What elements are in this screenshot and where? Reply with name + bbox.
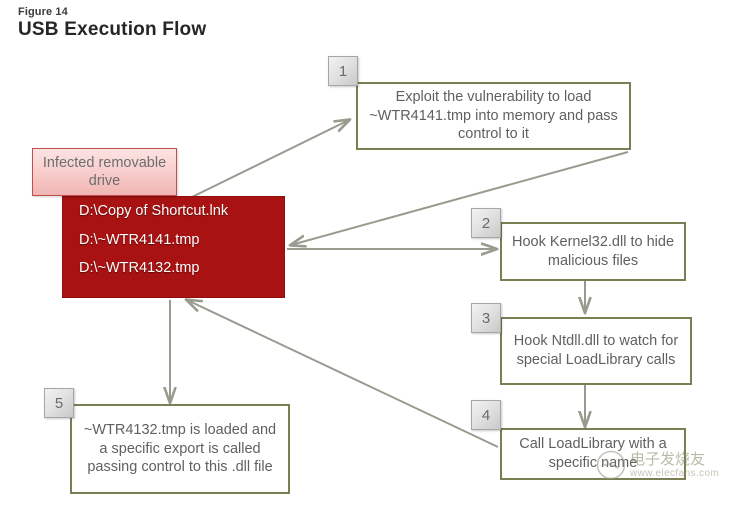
- step-2-text: Hook Kernel32.dll to hide malicious file…: [508, 233, 678, 270]
- step-4-text: Call LoadLibrary with a specific name: [508, 435, 678, 472]
- step-3-badge: 3: [471, 303, 501, 333]
- drive-path-item: D:\Copy of Shortcut.lnk: [79, 204, 284, 219]
- step-4-number: 4: [482, 407, 490, 424]
- step-5-box[interactable]: ~WTR4132.tmp is loaded and a specific ex…: [70, 404, 290, 494]
- step-1-number: 1: [339, 63, 347, 80]
- step-1-text: Exploit the vulnerability to load ~WTR41…: [364, 88, 623, 144]
- step-5-badge: 5: [44, 388, 74, 418]
- drive-path-item: D:\~WTR4132.tmp: [79, 261, 284, 276]
- step-2-number: 2: [482, 215, 490, 232]
- step-1-badge: 1: [328, 56, 358, 86]
- step-3-number: 3: [482, 310, 490, 327]
- step-2-badge: 2: [471, 208, 501, 238]
- step-5-text: ~WTR4132.tmp is loaded and a specific ex…: [78, 421, 282, 477]
- arrow-drive-to-step1: [190, 120, 349, 198]
- step-2-box[interactable]: Hook Kernel32.dll to hide malicious file…: [500, 222, 686, 281]
- step-4-box[interactable]: Call LoadLibrary with a specific name: [500, 428, 686, 480]
- step-3-text: Hook Ntdll.dll to watch for special Load…: [508, 332, 684, 369]
- drive-path-item: D:\~WTR4141.tmp: [79, 233, 284, 248]
- step-4-badge: 4: [471, 400, 501, 430]
- step-5-number: 5: [55, 395, 63, 412]
- infected-drive-label: Infected removable drive: [32, 148, 177, 196]
- step-3-box[interactable]: Hook Ntdll.dll to watch for special Load…: [500, 317, 692, 385]
- step-1-box[interactable]: Exploit the vulnerability to load ~WTR41…: [356, 82, 631, 150]
- infected-drive-body[interactable]: D:\Copy of Shortcut.lnk D:\~WTR4141.tmp …: [62, 196, 285, 298]
